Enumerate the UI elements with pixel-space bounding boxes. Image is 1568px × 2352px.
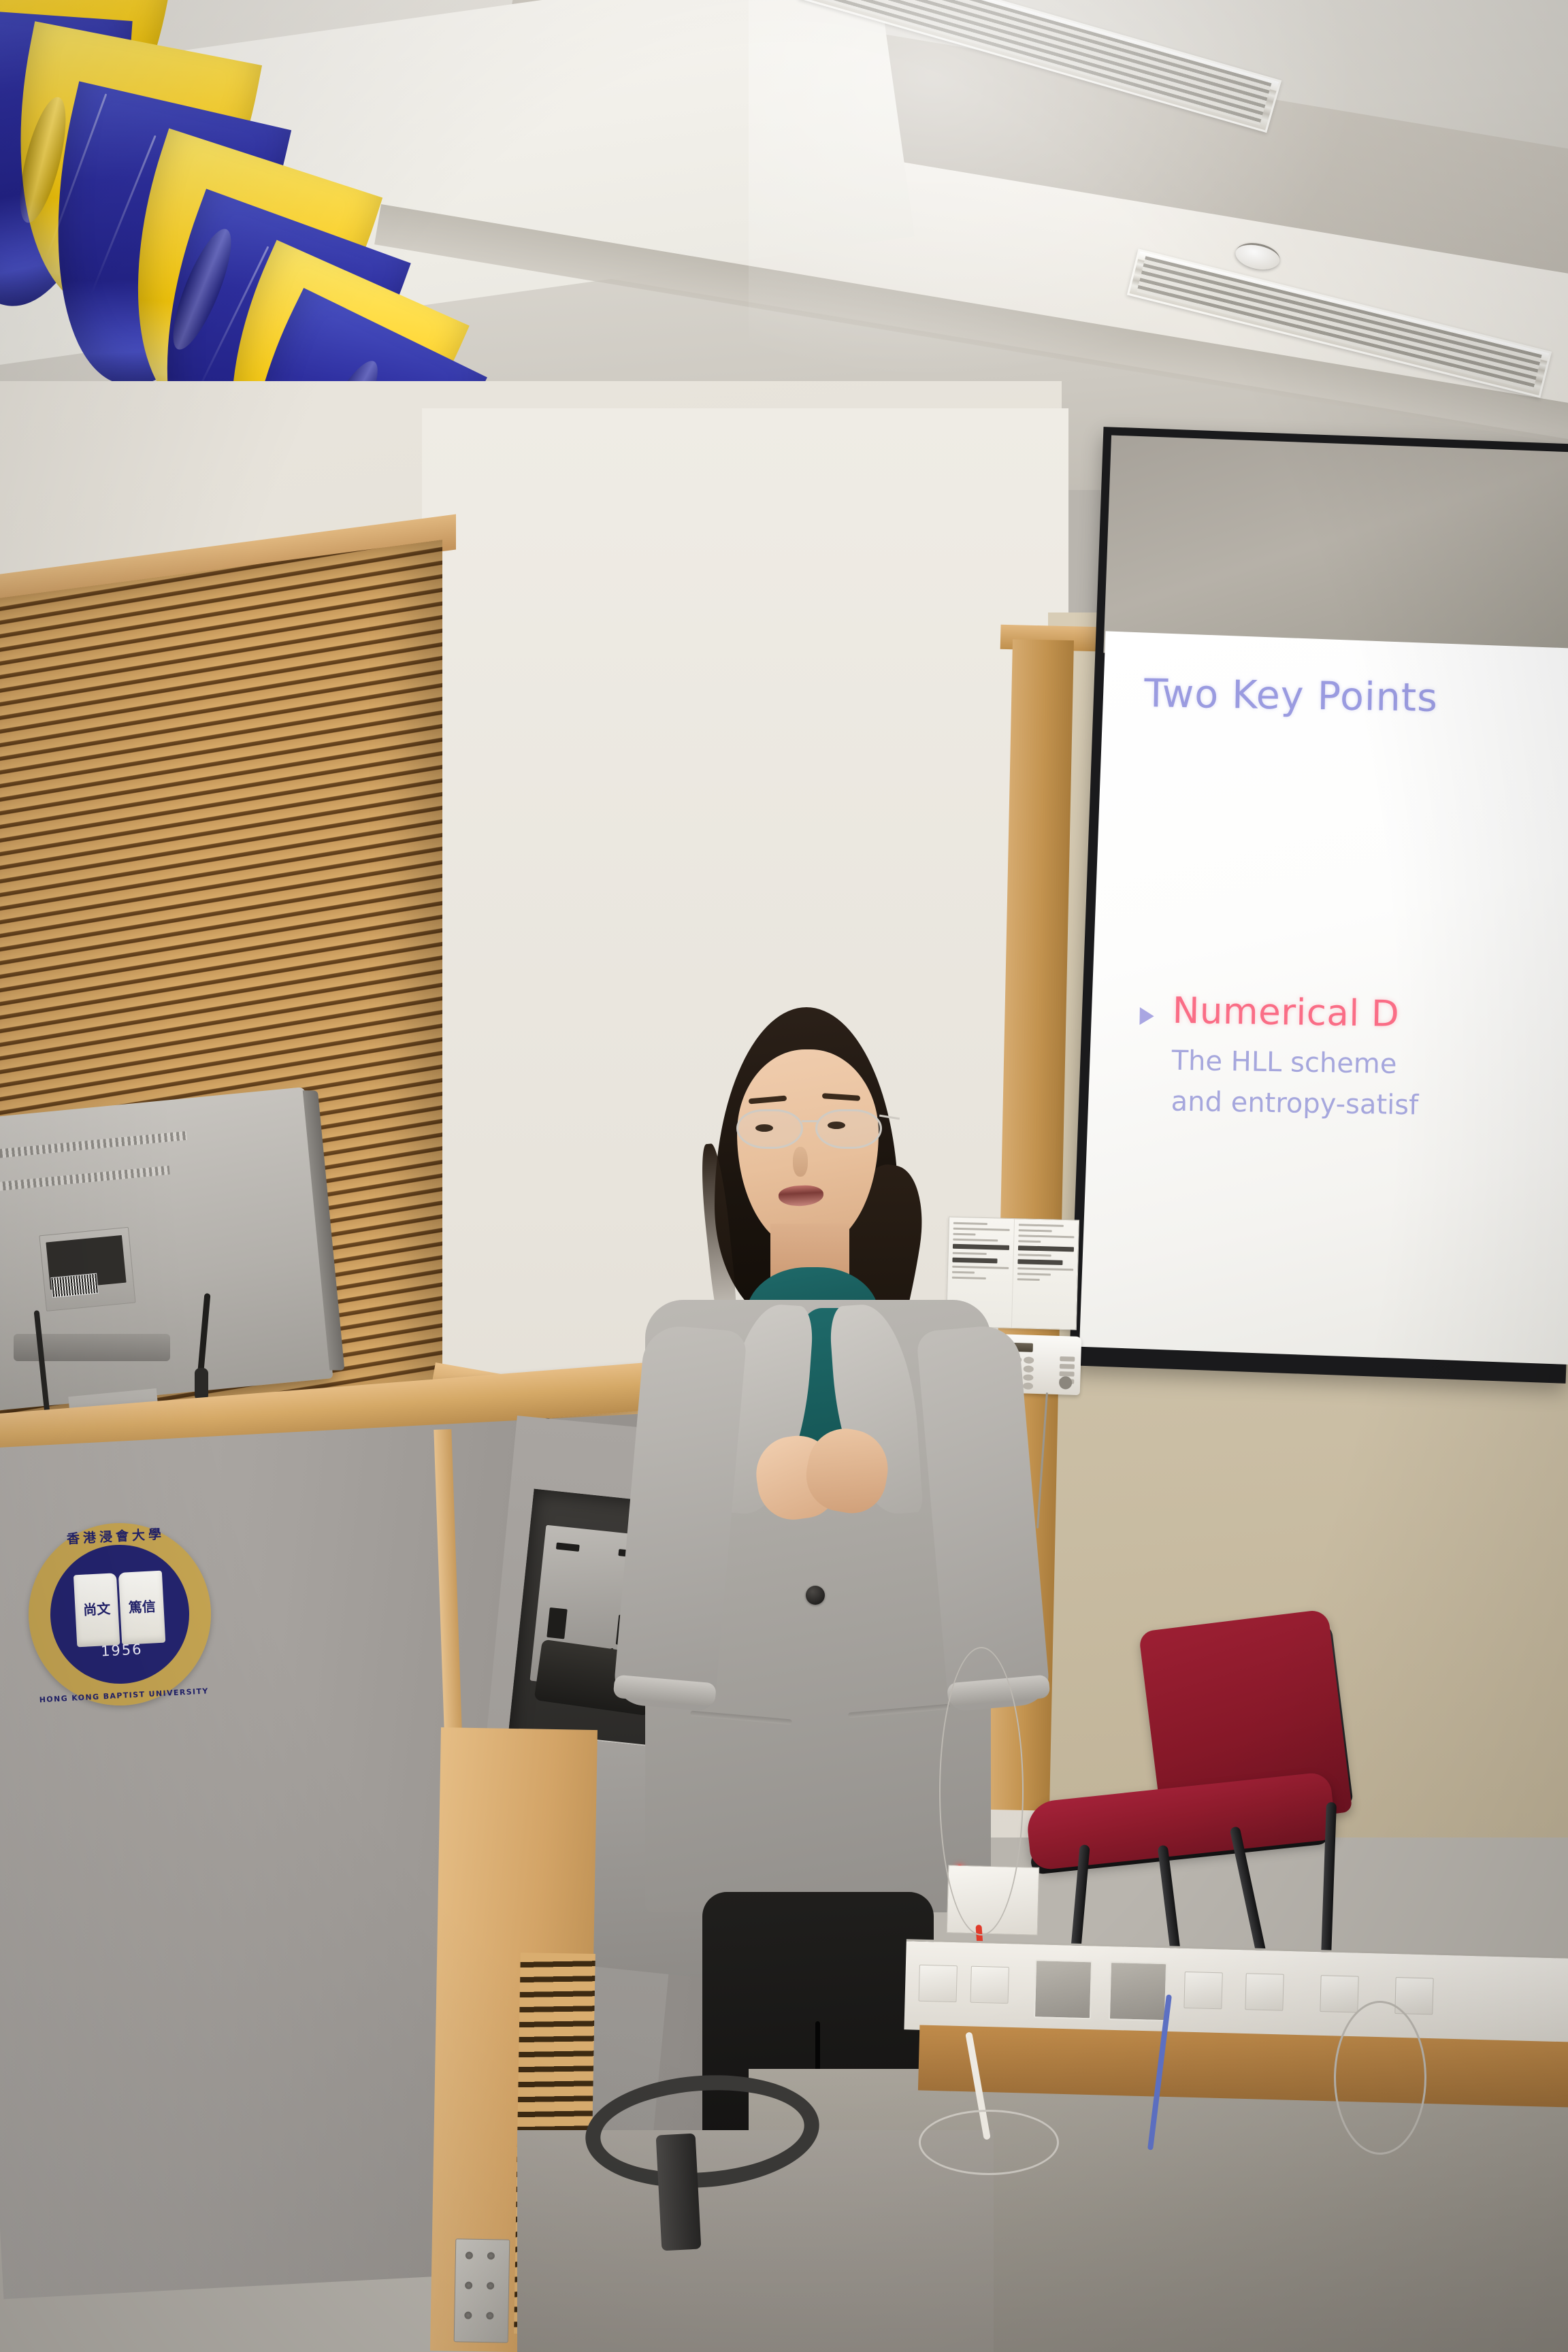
monitor-barcode [50, 1273, 99, 1298]
monitor-vent-slots [0, 1131, 187, 1162]
podium-connector-plate[interactable] [454, 2238, 510, 2342]
eye-left [755, 1124, 773, 1132]
service-plate[interactable] [1034, 1959, 1092, 2019]
seal-founding-year: 1956 [52, 1638, 191, 1662]
slide-title: Two Key Points [1144, 671, 1439, 721]
pedestal-ring [582, 2068, 823, 2195]
cable-ferrite-core [195, 1368, 208, 1401]
slide-bullet-line-2: and entropy-satisf [1171, 1082, 1418, 1126]
slide-surface: Two Key Points Numerical D The HLL schem… [1079, 631, 1568, 1365]
eye-right [828, 1122, 845, 1129]
nose [793, 1147, 808, 1177]
pedestal-post [656, 2134, 702, 2251]
power-socket[interactable] [970, 1966, 1009, 2004]
bullet-triangle-icon [1139, 1007, 1154, 1025]
blazer-pocket-right [848, 1703, 950, 1718]
service-plate[interactable] [1109, 1961, 1167, 2021]
power-socket[interactable] [1183, 1972, 1222, 2009]
slide-bullet-heading: Numerical D [1172, 990, 1420, 1036]
seal-page-left: 尚文 [73, 1573, 120, 1647]
blazer-pocket-left [690, 1710, 792, 1725]
wall-wire [939, 1647, 1024, 1935]
seal-page-right: 篤信 [118, 1571, 165, 1645]
power-socket[interactable] [919, 1965, 958, 2002]
lecture-hall-photo: Two Key Points Numerical D The HLL schem… [0, 0, 1568, 2352]
seal-open-book-icon: 尚文 篤信 [73, 1571, 166, 1648]
slide-bullet: Numerical D The HLL scheme and entropy-s… [1138, 990, 1420, 1125]
clasped-hands [757, 1429, 887, 1531]
projection-screen: Two Key Points Numerical D The HLL schem… [1069, 427, 1568, 1384]
lens-right [815, 1109, 882, 1149]
blazer-button [806, 1586, 825, 1605]
glasses-temple [879, 1115, 900, 1120]
power-socket[interactable] [1245, 1973, 1284, 2010]
glasses-bridge [802, 1120, 818, 1122]
coiled-cable [919, 2110, 1059, 2175]
monitor-vent-slots [0, 1166, 170, 1194]
slide-bullet-line-1: The HLL scheme [1171, 1041, 1419, 1085]
sleeve-cuff-left [613, 1675, 717, 1707]
hanging-wire [1334, 2001, 1426, 2155]
monitor-vesa-plate [39, 1227, 135, 1311]
power-socket[interactable] [1320, 1975, 1358, 2012]
computer-monitor-rear [0, 1087, 333, 1411]
chair-pedestal-base [585, 2076, 789, 2253]
